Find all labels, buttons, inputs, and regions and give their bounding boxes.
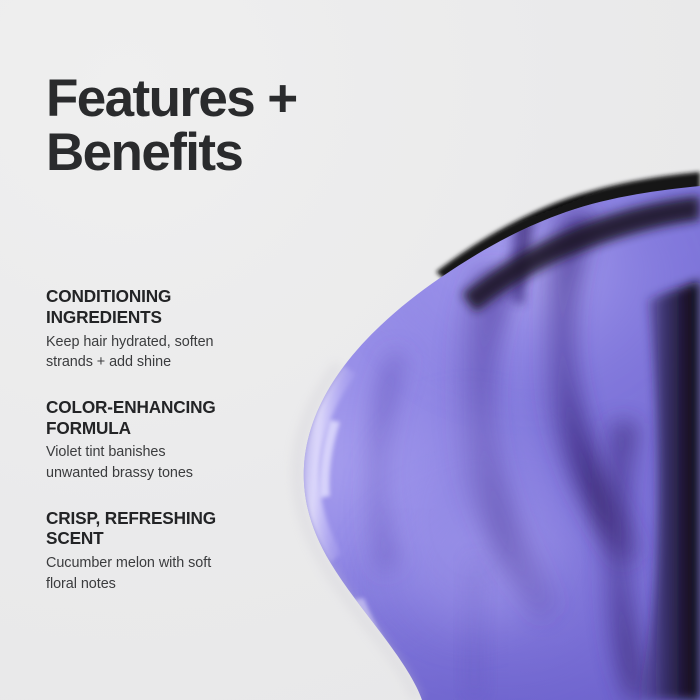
- text-column: Features + Benefits CONDITIONING INGREDI…: [46, 0, 346, 700]
- feature-title: CONDITIONING INGREDIENTS: [46, 286, 314, 328]
- feature-description: Cucumber melon with soft floral notes: [46, 553, 314, 594]
- feature-item-color-enhancing-formula: COLOR-ENHANCING FORMULA Violet tint bani…: [46, 397, 314, 484]
- feature-item-crisp-refreshing-scent: CRISP, REFRESHING SCENT Cucumber melon w…: [46, 508, 314, 595]
- feature-list: CONDITIONING INGREDIENTS Keep hair hydra…: [46, 286, 314, 594]
- feature-title: COLOR-ENHANCING FORMULA: [46, 397, 314, 439]
- product-feature-graphic: Features + Benefits CONDITIONING INGREDI…: [0, 0, 700, 700]
- feature-description: Keep hair hydrated, soften strands + add…: [46, 332, 314, 373]
- feature-title: CRISP, REFRESHING SCENT: [46, 508, 314, 550]
- page-title: Features + Benefits: [46, 72, 376, 180]
- feature-item-conditioning-ingredients: CONDITIONING INGREDIENTS Keep hair hydra…: [46, 286, 314, 373]
- feature-description: Violet tint banishes unwanted brassy ton…: [46, 442, 314, 483]
